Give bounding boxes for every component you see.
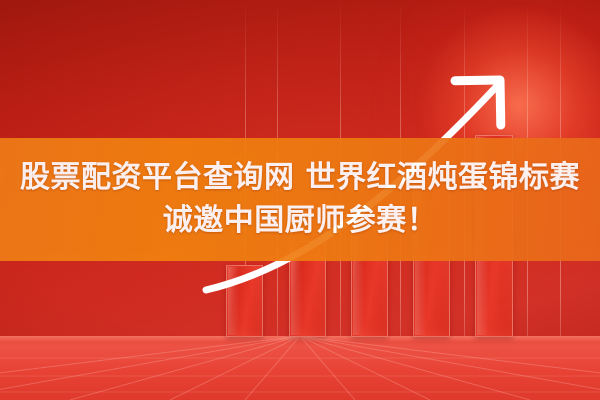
- caption-text: 股票配资平台查询网 世界红酒炖蛋锦标赛诚邀中国厨师参赛！: [8, 157, 592, 242]
- bar-1: [226, 265, 263, 337]
- promo-banner-image: 股票配资平台查询网 世界红酒炖蛋锦标赛诚邀中国厨师参赛！: [0, 0, 600, 400]
- caption-band: 股票配资平台查询网 世界红酒炖蛋锦标赛诚邀中国厨师参赛！: [0, 138, 600, 261]
